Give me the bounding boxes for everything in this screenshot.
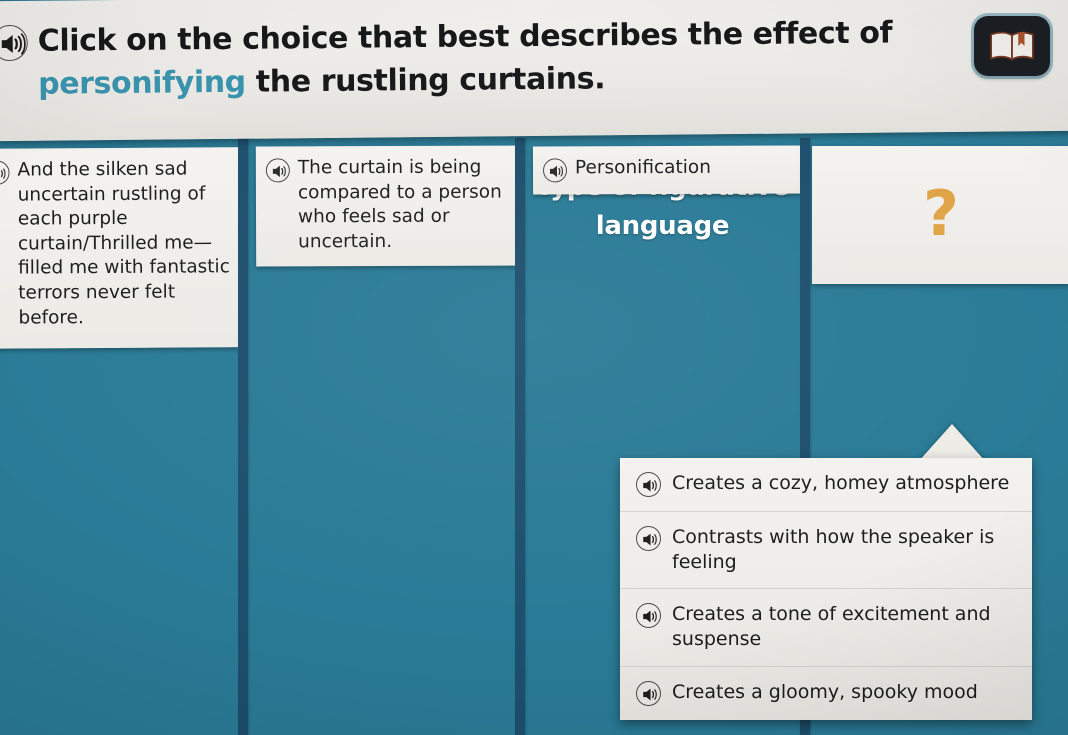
speaker-icon[interactable]	[636, 472, 661, 497]
prompt-line-1: Click on the choice that best describes …	[6, 12, 985, 107]
cell-text: The curtain is being compared to a perso…	[298, 156, 511, 255]
choice-label: Contrasts with how the speaker is feelin…	[672, 525, 1018, 574]
callout-pointer	[918, 424, 986, 462]
column-divider-1	[238, 138, 248, 735]
choice-label: Creates a gloomy, spooky mood	[672, 680, 978, 705]
prompt-line-1-text: Click on the choice that best describes …	[38, 16, 893, 59]
choice-option-3[interactable]: Creates a tone of excitement and suspens…	[620, 589, 1032, 666]
prompt-line-2-text: the rustling curtains.	[246, 61, 606, 99]
column-divider-2	[515, 138, 525, 735]
cell-what-is-compared[interactable]: The curtain is being compared to a perso…	[256, 146, 521, 267]
prompt-bar: Click on the choice that best describes …	[0, 0, 1068, 141]
cell-text: And the silken sad uncertain rustling of…	[17, 157, 234, 330]
table-column-1: Figurative language And the silken sad u…	[0, 138, 238, 735]
speaker-icon[interactable]	[0, 25, 28, 61]
open-book-icon[interactable]	[974, 16, 1050, 76]
cell-effect-placeholder[interactable]: ?	[812, 146, 1068, 284]
speaker-icon[interactable]	[543, 158, 567, 182]
speaker-icon[interactable]	[636, 526, 661, 551]
cell-text: Personification	[575, 156, 711, 181]
question-mark-placeholder: ?	[923, 183, 959, 245]
choice-option-2[interactable]: Contrasts with how the speaker is feelin…	[620, 512, 1032, 589]
speaker-icon[interactable]	[266, 158, 290, 182]
answer-choices-popup[interactable]: Creates a cozy, homey atmosphere Contras…	[620, 458, 1032, 720]
cell-type-of-figurative-language[interactable]: Personification	[533, 146, 808, 195]
table-column-2: What is being compared? The curtain is b…	[248, 138, 515, 735]
prompt-keyword: personifying	[38, 64, 246, 101]
choice-option-4[interactable]: Creates a gloomy, spooky mood	[620, 667, 1032, 720]
speaker-icon[interactable]	[0, 161, 10, 185]
cell-figurative-language[interactable]: And the silken sad uncertain rustling of…	[0, 147, 245, 349]
choice-label: Creates a cozy, homey atmosphere	[672, 471, 1009, 496]
choice-label: Creates a tone of excitement and suspens…	[672, 602, 1018, 651]
choice-option-1[interactable]: Creates a cozy, homey atmosphere	[620, 458, 1032, 512]
prompt-content: Click on the choice that best describes …	[6, 12, 985, 125]
lesson-screen: Figurative language And the silken sad u…	[0, 0, 1068, 735]
speaker-icon[interactable]	[636, 603, 661, 628]
speaker-icon[interactable]	[636, 681, 661, 706]
prompt-text: Click on the choice that best describes …	[38, 13, 893, 106]
